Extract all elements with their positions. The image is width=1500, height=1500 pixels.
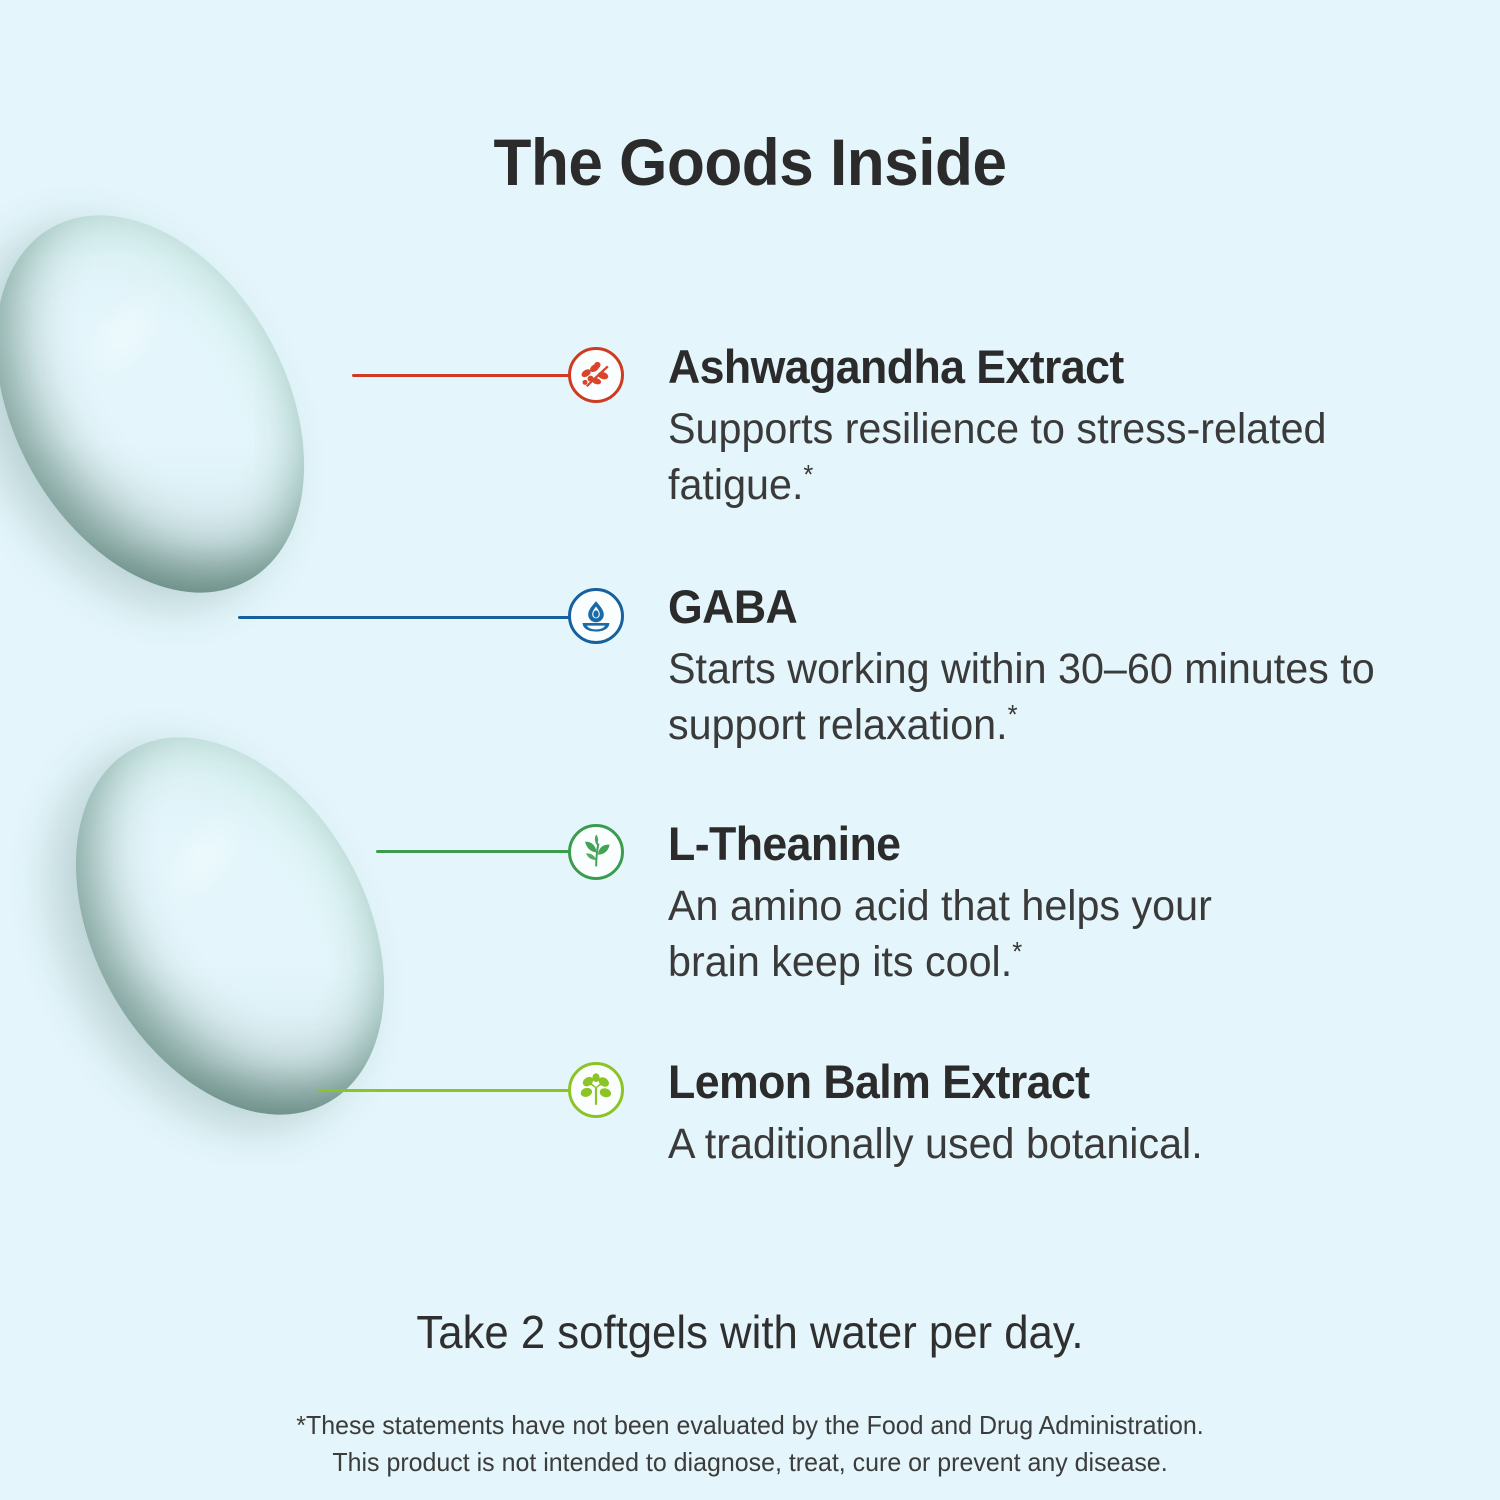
ingredient-ashwagandha: Ashwagandha Extract Supports resilience …	[668, 343, 1500, 514]
asterisk-marker: *	[1012, 936, 1022, 966]
disclaimer-line-1: *These statements have not been evaluate…	[30, 1407, 1470, 1444]
ingredient-lemon-balm: Lemon Balm Extract A traditionally used …	[668, 1058, 1225, 1173]
ingredient-gaba: GABA Starts working within 30–60 minutes…	[668, 583, 1428, 754]
ingredient-description: Starts working within 30–60 minutes to s…	[668, 642, 1398, 754]
ingredient-l-theanine: L-Theanine An amino acid that helps your…	[668, 820, 1308, 991]
ingredient-name: GABA	[668, 583, 1390, 632]
dosage-instructions: Take 2 softgels with water per day.	[38, 1305, 1463, 1359]
ingredient-description-text: An amino acid that helps your brain keep…	[668, 882, 1212, 986]
fda-disclaimer: *These statements have not been evaluate…	[30, 1407, 1470, 1482]
ingredient-description: Supports resilience to stress-related fa…	[668, 402, 1467, 514]
tea-leaf-icon	[568, 824, 624, 880]
ingredient-name: Lemon Balm Extract	[668, 1058, 1197, 1107]
leader-line-lemonbalm	[318, 1089, 574, 1092]
disclaimer-line-2: This product is not intended to diagnose…	[30, 1444, 1470, 1481]
leader-line-gaba	[238, 616, 574, 619]
softgel-capsule-top	[0, 161, 367, 646]
meditation-lamp-icon	[568, 588, 624, 644]
softgel-capsule-bottom	[13, 683, 447, 1168]
leader-line-ashwagandha	[352, 374, 574, 377]
ingredient-description-text: Supports resilience to stress-related fa…	[668, 405, 1326, 509]
ingredient-name: L-Theanine	[668, 820, 1276, 869]
berry-branch-icon	[568, 347, 624, 403]
leader-line-ltheanine	[376, 850, 574, 853]
ingredient-description-text: Starts working within 30–60 minutes to s…	[668, 645, 1375, 749]
asterisk-marker: *	[1008, 699, 1018, 729]
ingredient-name: Ashwagandha Extract	[668, 343, 1458, 392]
product-infographic: The Goods Inside	[0, 0, 1500, 1500]
ingredient-description: An amino acid that helps your brain keep…	[668, 879, 1282, 991]
ingredient-description: A traditionally used botanical.	[668, 1117, 1203, 1173]
ingredient-description-text: A traditionally used botanical.	[668, 1120, 1203, 1168]
sprout-icon	[568, 1062, 624, 1118]
asterisk-marker: *	[803, 459, 813, 489]
page-title: The Goods Inside	[45, 124, 1455, 200]
